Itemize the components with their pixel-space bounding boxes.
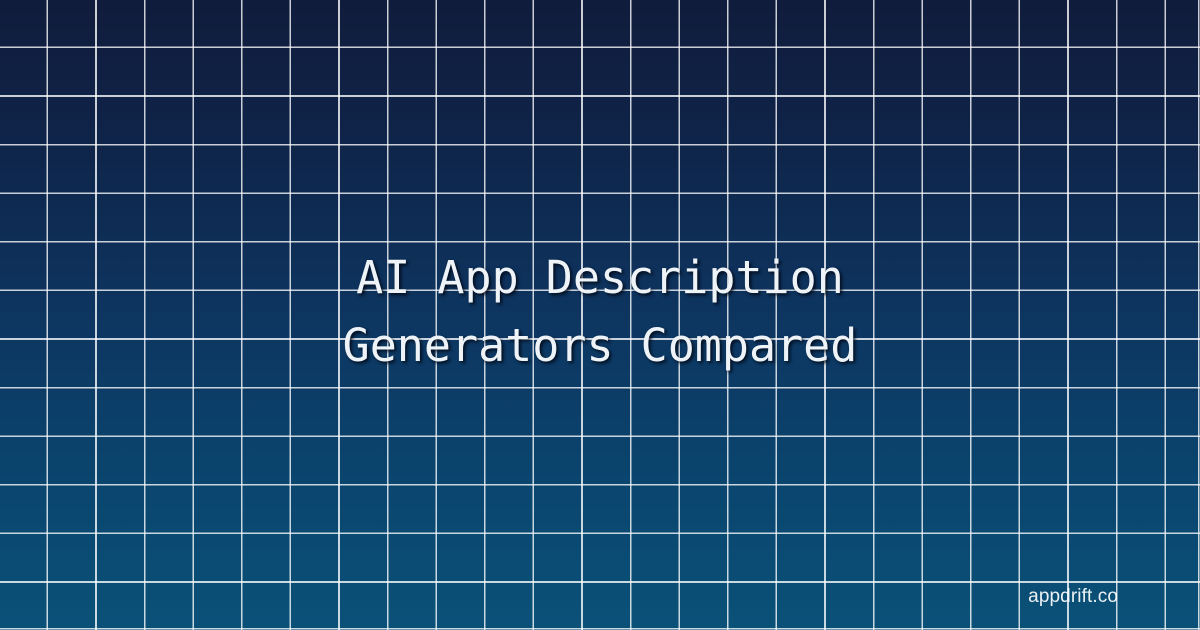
page-title-line-2: Generators Compared: [343, 312, 858, 380]
site-watermark: appdrift.co: [1028, 586, 1118, 608]
title-block: AI App Description Generators Compared: [0, 0, 1200, 630]
page-title-line-1: AI App Description: [356, 244, 844, 312]
og-image-card: AI App Description Generators Compared a…: [0, 0, 1200, 630]
